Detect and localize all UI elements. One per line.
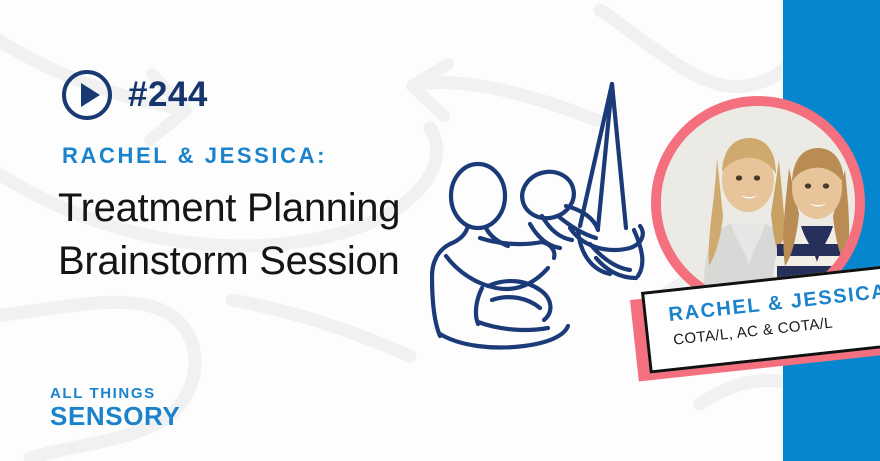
episode-row: #244 [62, 70, 208, 120]
play-triangle [81, 83, 100, 107]
brand-logo-bottom: SENSORY [50, 403, 180, 430]
play-icon [62, 70, 112, 120]
brand-logo: ALL THINGS SENSORY [50, 386, 180, 430]
hosts-eyebrow: RACHEL & JESSICA: [62, 143, 327, 169]
title-line-1: Treatment Planning [58, 182, 478, 235]
episode-number: #244 [128, 75, 208, 115]
brand-logo-top: ALL THINGS [50, 386, 180, 401]
title-line-2: Brainstorm Session [58, 235, 478, 288]
page-title: Treatment Planning Brainstorm Session [58, 182, 478, 288]
podcast-cover-image: #244 RACHEL & JESSICA: Treatment Plannin… [0, 0, 880, 461]
